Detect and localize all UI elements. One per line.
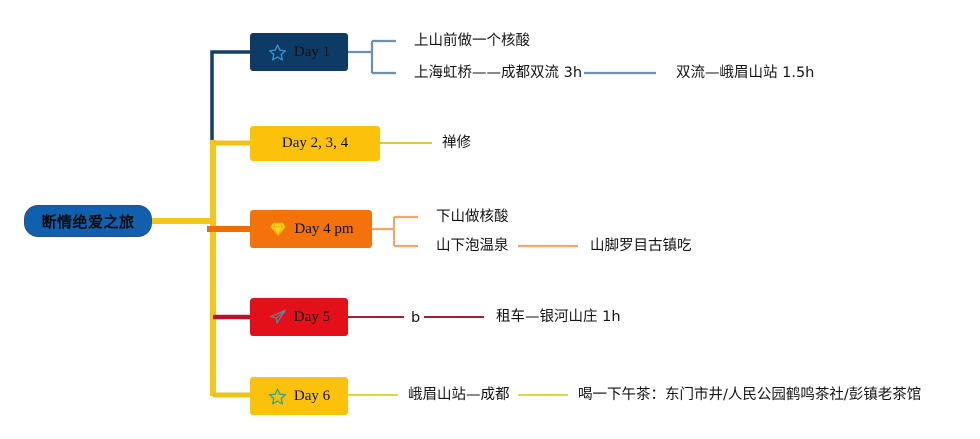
leaf-day-4-pm-child-2[interactable]: 山下泡温泉	[436, 239, 509, 254]
topic-node-day-2-3-4-label: Day 2, 3, 4	[282, 135, 348, 152]
send-icon	[268, 307, 288, 327]
leaf-day-2-3-4-child-1[interactable]: 禅修	[442, 136, 471, 151]
leaf-day-4-pm-grandchild-1[interactable]: 山脚罗目古镇吃	[590, 239, 692, 254]
root-node[interactable]: 断情绝爱之旅	[24, 205, 152, 237]
star-icon	[268, 42, 288, 62]
leaf-day-6-grandchild-1[interactable]: 喝一下午茶：东门市井/人民公园鹤鸣茶社/彭镇老茶馆	[578, 388, 921, 403]
topic-node-day-5-label: Day 5	[294, 309, 330, 326]
topic-node-day-4-pm-label: Day 4 pm	[294, 221, 353, 238]
topic-node-day-6[interactable]: Day 6	[250, 377, 348, 415]
topic-node-day-1[interactable]: Day 1	[250, 33, 348, 71]
star-icon	[268, 386, 288, 406]
topic-node-day-6-label: Day 6	[294, 388, 330, 405]
topic-node-day-5[interactable]: Day 5	[250, 298, 348, 336]
leaf-day-1-child-1[interactable]: 上山前做一个核酸	[414, 34, 530, 49]
mindmap-canvas: 断情绝爱之旅 Day 1 上山前做一个核酸 上海虹桥——成都双流 3h 双流—峨…	[0, 0, 980, 439]
leaf-day-5-child-1[interactable]: b	[411, 311, 420, 326]
topic-node-day-4-pm[interactable]: Day 4 pm	[250, 210, 372, 248]
topic-node-day-1-label: Day 1	[294, 44, 330, 61]
gem-icon	[268, 219, 288, 239]
root-node-label: 断情绝爱之旅	[41, 211, 134, 232]
leaf-day-6-child-1[interactable]: 峨眉山站—成都	[408, 388, 510, 403]
topic-node-day-2-3-4[interactable]: Day 2, 3, 4	[250, 126, 380, 161]
leaf-day-5-grandchild-1[interactable]: 租车—银河山庄 1h	[496, 310, 621, 325]
leaf-day-1-child-2[interactable]: 上海虹桥——成都双流 3h	[414, 66, 582, 81]
leaf-day-4-pm-child-1[interactable]: 下山做核酸	[436, 210, 509, 225]
wire-day-1	[212, 52, 250, 140]
leaf-day-1-grandchild-1[interactable]: 双流—峨眉山站 1.5h	[676, 66, 814, 81]
